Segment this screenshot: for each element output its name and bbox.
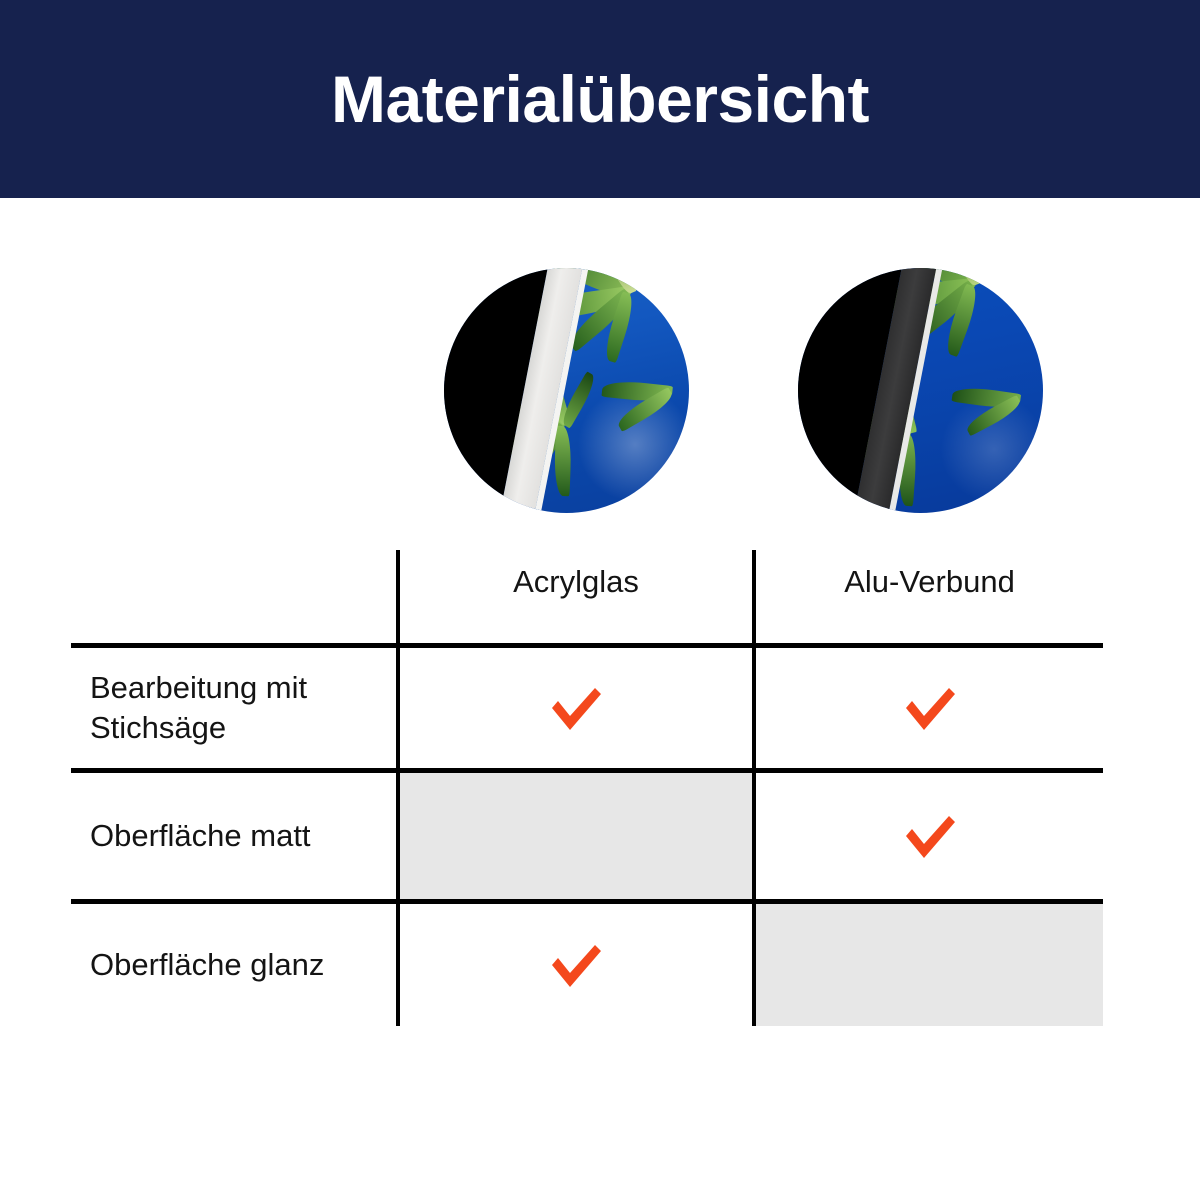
- cell-alu-verbund: [752, 648, 1103, 768]
- table-row: Oberfläche glanz: [71, 899, 1103, 1026]
- page-header-banner: Materialübersicht: [0, 0, 1200, 198]
- checkmark-icon: [902, 813, 958, 859]
- material-comparison-table: Acrylglas Alu-Verbund Bearbeitung mit St…: [71, 550, 1103, 1026]
- checkmark-icon: [902, 685, 958, 731]
- table-row: Oberfläche matt: [71, 768, 1103, 899]
- table-corner-cell: [71, 550, 396, 643]
- row-label: Bearbeitung mit Stichsäge: [90, 668, 396, 747]
- column-header-label: Acrylglas: [513, 564, 639, 600]
- palm-tree-photo-gloss: [444, 268, 689, 513]
- palm-tree-photo-matte: [798, 268, 1043, 513]
- cell-acrylglas-unavailable: [396, 773, 752, 899]
- row-label-cell: Bearbeitung mit Stichsäge: [71, 648, 396, 768]
- column-header-label: Alu-Verbund: [844, 564, 1015, 600]
- checkmark-icon: [548, 942, 604, 988]
- page-title: Materialübersicht: [331, 66, 869, 132]
- material-preview-row: [0, 268, 1200, 514]
- row-label-cell: Oberfläche glanz: [71, 904, 396, 1026]
- row-label: Oberfläche glanz: [90, 945, 324, 985]
- alu-verbund-preview-image: [798, 268, 1043, 513]
- table-header-row: Acrylglas Alu-Verbund: [71, 550, 1103, 643]
- cell-alu-verbund-unavailable: [752, 904, 1103, 1026]
- column-header-acrylglas: Acrylglas: [396, 550, 752, 643]
- row-label-cell: Oberfläche matt: [71, 773, 396, 899]
- row-label: Oberfläche matt: [90, 816, 311, 856]
- cell-acrylglas: [396, 904, 752, 1026]
- cell-acrylglas: [396, 648, 752, 768]
- column-header-alu-verbund: Alu-Verbund: [752, 550, 1103, 643]
- checkmark-icon: [548, 685, 604, 731]
- acrylglas-preview-image: [444, 268, 689, 513]
- table-row: Bearbeitung mit Stichsäge: [71, 643, 1103, 768]
- cell-alu-verbund: [752, 773, 1103, 899]
